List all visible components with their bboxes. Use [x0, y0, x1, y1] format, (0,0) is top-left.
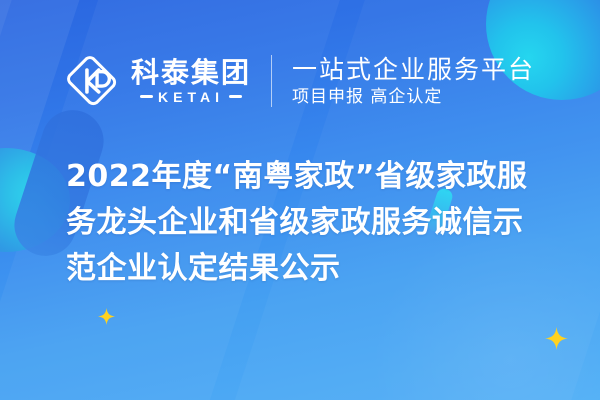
- brand-name-cn: 科泰集团: [131, 59, 251, 87]
- tagline-primary: 一站式企业服务平台: [292, 57, 535, 82]
- tagline-group: 一站式企业服务平台 项目申报 高企认定: [292, 57, 535, 106]
- sparkle-star-icon-right: [545, 327, 568, 350]
- banner-header: 科泰集团 KETAI 一站式企业服务平台 项目申报 高企认定: [0, 36, 600, 126]
- page-title: 2022年度“南粤家政”省级家政服务龙头企业和省级家政服务诚信示范企业认定结果公…: [66, 154, 546, 292]
- wordmark-en-row: KETAI: [140, 90, 242, 104]
- brand-lockup[interactable]: 科泰集团 KETAI: [65, 54, 251, 108]
- brand-name-en: KETAI: [158, 90, 224, 104]
- wordmark-rule-right: [229, 95, 242, 98]
- title-block: 2022年度“南粤家政”省级家政服务龙头企业和省级家政服务诚信示范企业认定结果公…: [66, 154, 546, 292]
- wordmark-rule-left: [140, 95, 153, 98]
- tagline-secondary: 项目申报 高企认定: [292, 89, 535, 106]
- ketai-kp-monogram-icon: [65, 54, 119, 108]
- wordmark: 科泰集团 KETAI: [131, 59, 251, 104]
- sparkle-star-icon-left: [98, 308, 115, 325]
- promo-banner: 科泰集团 KETAI 一站式企业服务平台 项目申报 高企认定 2022年度“南粤…: [0, 0, 600, 400]
- vertical-divider: [271, 55, 272, 107]
